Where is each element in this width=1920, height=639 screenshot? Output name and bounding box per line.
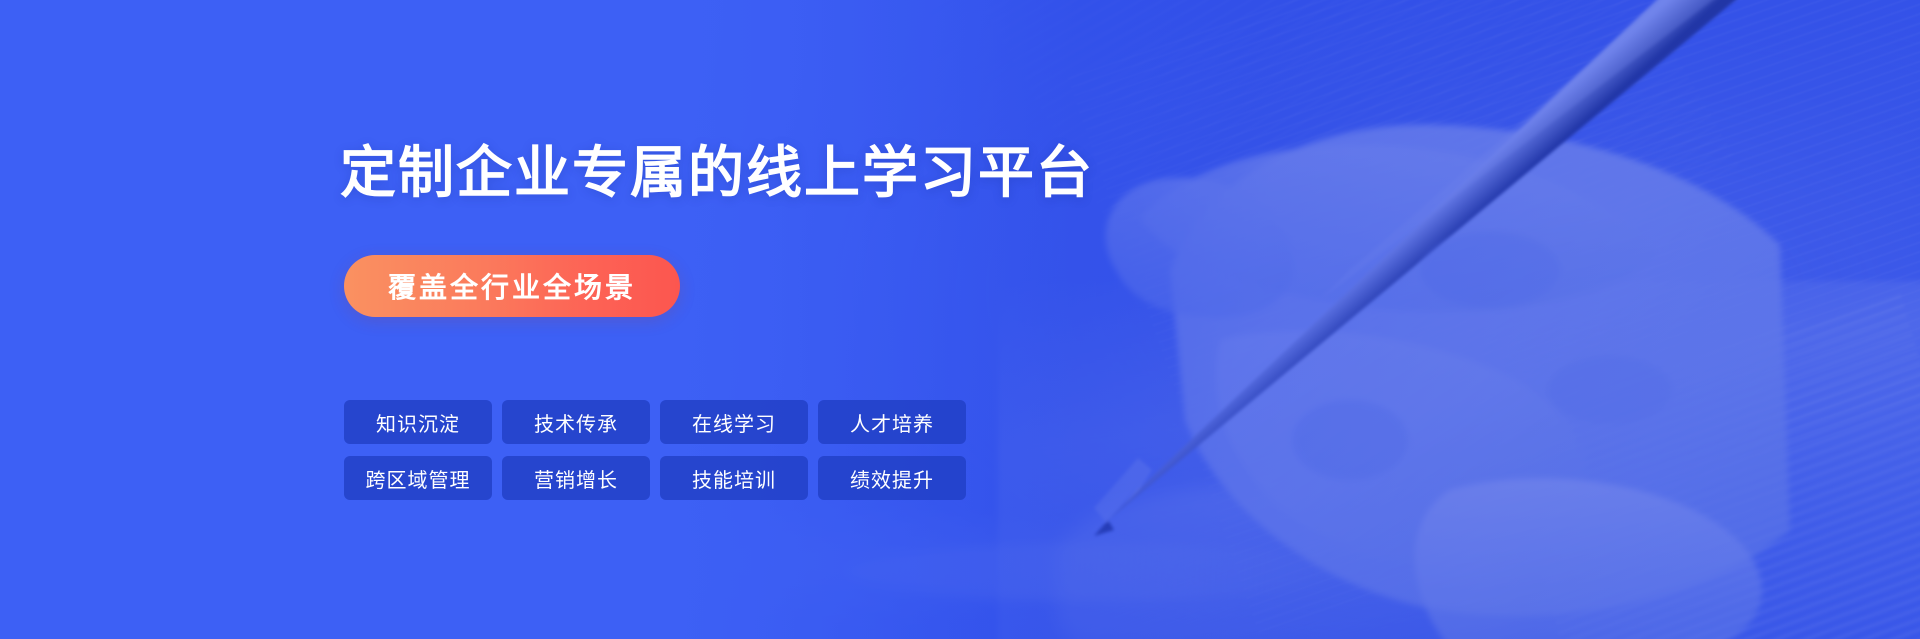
tag-knowledge-precipitation[interactable]: 知识沉淀 [344, 400, 492, 444]
page-title: 定制企业专属的线上学习平台 [340, 140, 1094, 206]
hero-banner: 定制企业专属的线上学习平台 覆盖全行业全场景 知识沉淀 技术传承 在线学习 人才… [0, 0, 1920, 639]
banner-content: 定制企业专属的线上学习平台 覆盖全行业全场景 知识沉淀 技术传承 在线学习 人才… [340, 0, 1160, 639]
tag-performance-improvement[interactable]: 绩效提升 [818, 456, 966, 500]
tag-skill-training[interactable]: 技能培训 [660, 456, 808, 500]
tag-cross-region-management[interactable]: 跨区域管理 [344, 456, 492, 500]
tag-marketing-growth[interactable]: 营销增长 [502, 456, 650, 500]
tag-online-learning[interactable]: 在线学习 [660, 400, 808, 444]
tag-talent-development[interactable]: 人才培养 [818, 400, 966, 444]
tag-technology-inheritance[interactable]: 技术传承 [502, 400, 650, 444]
subtitle-pill-button[interactable]: 覆盖全行业全场景 [344, 255, 680, 317]
feature-tag-grid: 知识沉淀 技术传承 在线学习 人才培养 跨区域管理 营销增长 技能培训 绩效提升 [344, 400, 966, 500]
